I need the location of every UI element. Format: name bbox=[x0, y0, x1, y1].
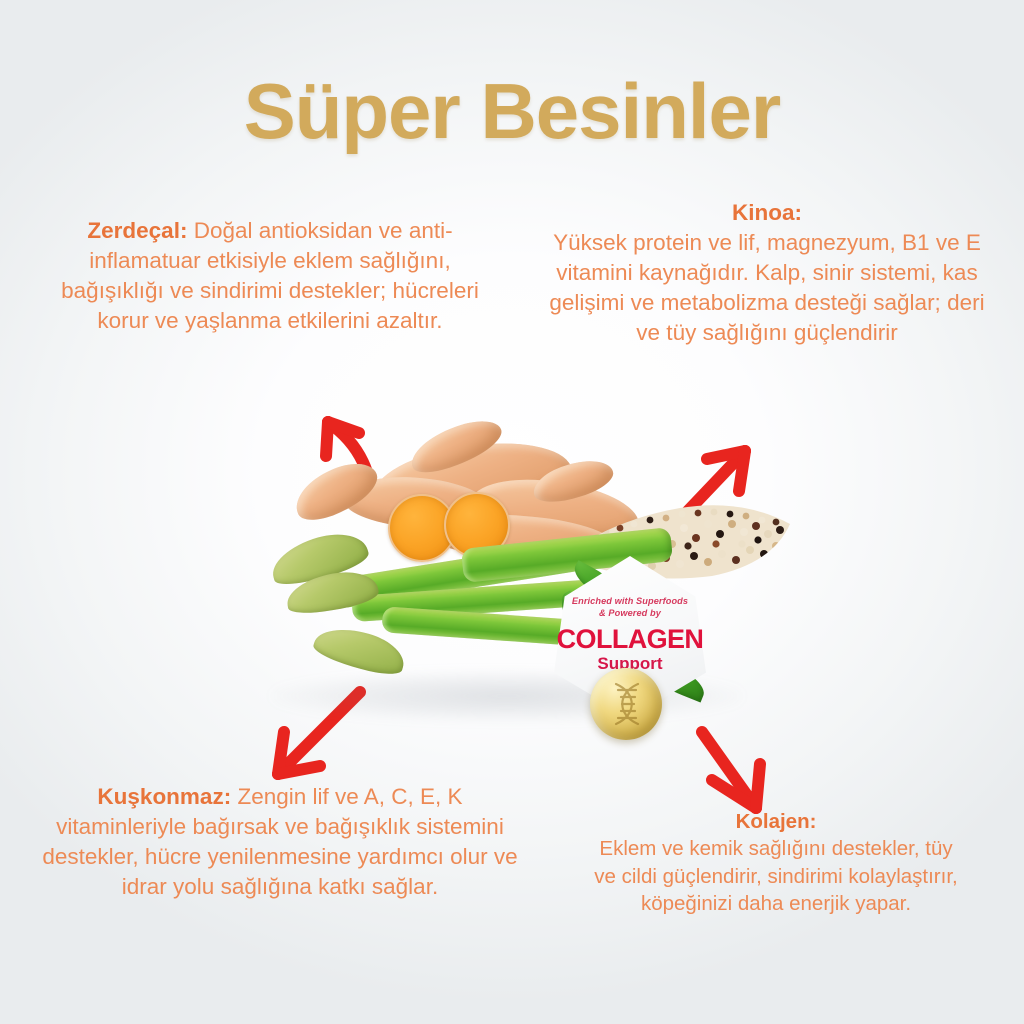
infographic-canvas: Süper Besinler Zerdeçal: Doğal antioksid… bbox=[0, 0, 1024, 1024]
dna-helix-icon bbox=[607, 681, 647, 727]
badge-tagline-line1: Enriched with Superfoods bbox=[572, 596, 688, 606]
badge-main-label: COLLAGEN bbox=[554, 626, 706, 653]
quinoa-body: Yüksek protein ve lif, magnezyum, B1 ve … bbox=[548, 228, 986, 348]
collagen-badge: Enriched with Superfoods & Powered by CO… bbox=[554, 556, 706, 718]
page-title: Süper Besinler bbox=[0, 72, 1024, 150]
badge-tagline-line2: & Powered by bbox=[599, 608, 661, 618]
info-block-quinoa: Kinoa: Yüksek protein ve lif, magnezyum,… bbox=[548, 198, 986, 348]
produce-composition bbox=[232, 420, 792, 780]
asparagus-heading: Kuşkonmaz: bbox=[97, 784, 231, 809]
turmeric-heading: Zerdeçal: bbox=[87, 218, 187, 243]
gold-capsule bbox=[590, 668, 662, 740]
badge-tagline: Enriched with Superfoods & Powered by bbox=[562, 596, 698, 620]
collagen-body: Eklem ve kemik sağlığını destekler, tüy … bbox=[592, 835, 960, 917]
quinoa-heading: Kinoa: bbox=[548, 198, 986, 228]
info-block-turmeric: Zerdeçal: Doğal antioksidan ve anti-infl… bbox=[60, 216, 480, 336]
